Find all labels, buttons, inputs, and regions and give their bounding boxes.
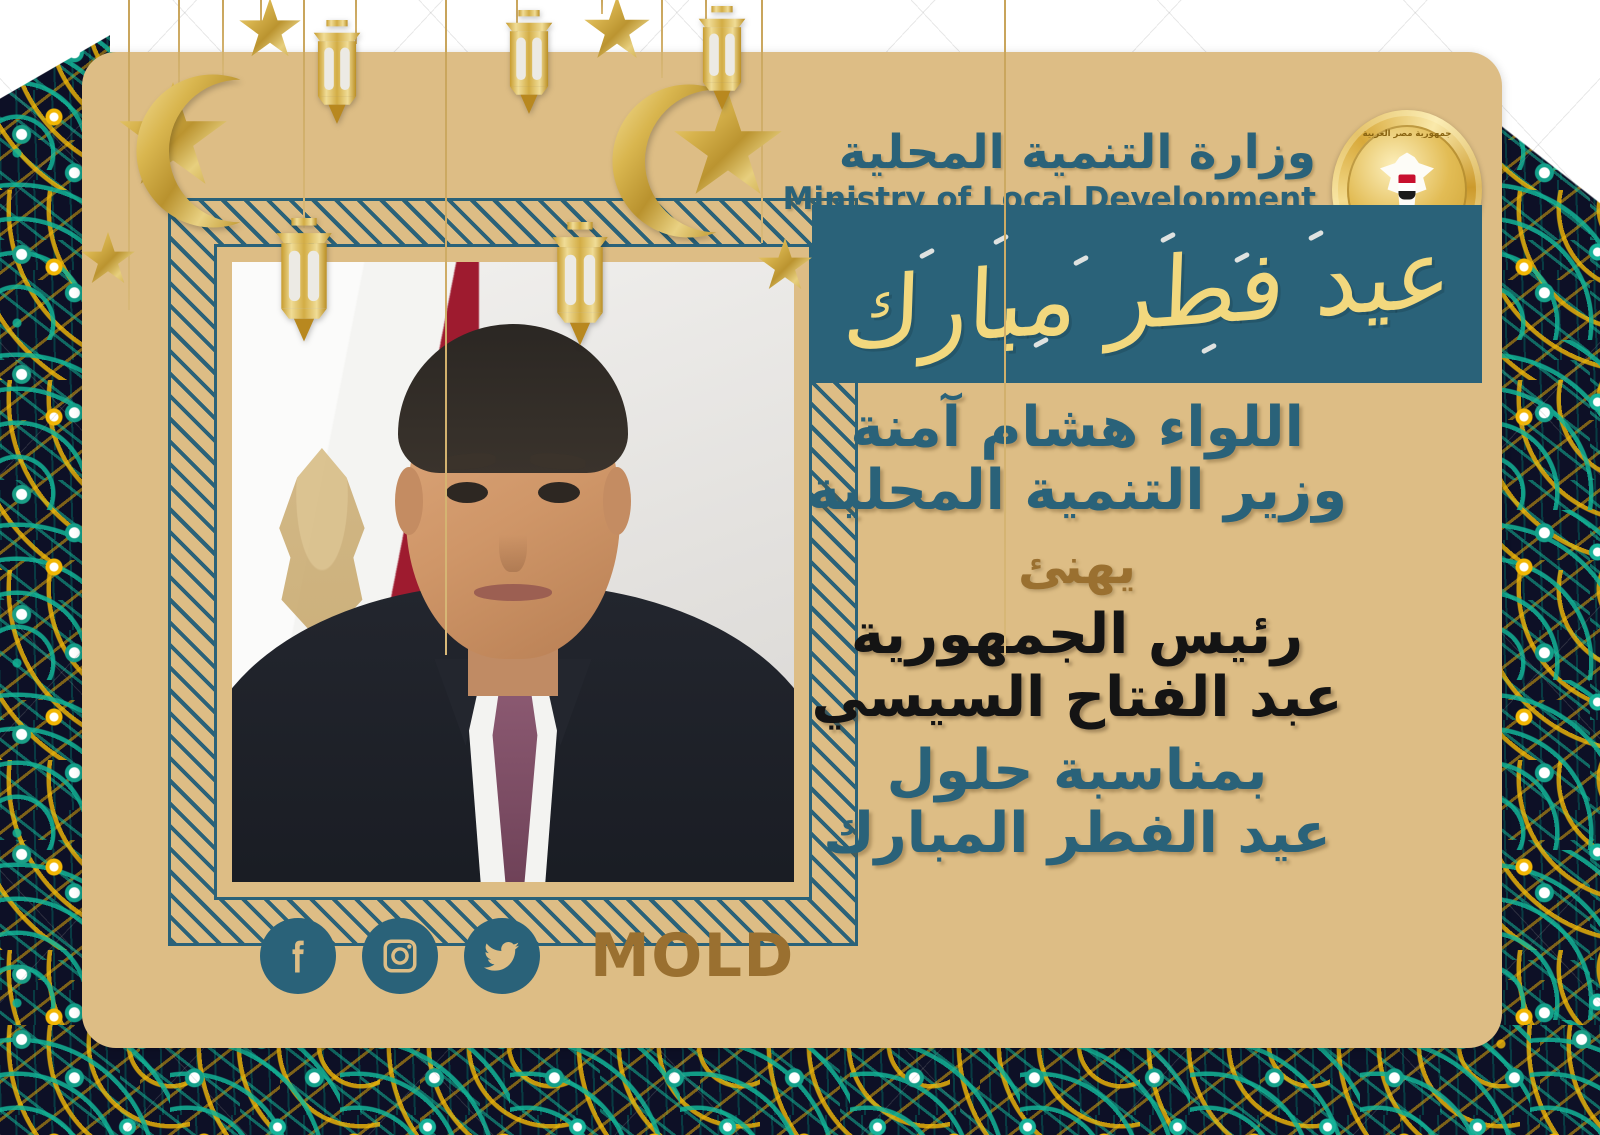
message-line-president-name: عبد الفتاح السيسي <box>762 667 1392 730</box>
poster-card: وزارة التنمية المحلية Ministry of Local … <box>82 52 1502 1048</box>
facebook-icon <box>276 934 320 978</box>
message-line-minister-name: اللواء هشام آمنة <box>762 397 1392 460</box>
seal-text-top: جمهورية مصر العربية <box>1332 129 1482 139</box>
portrait-ear-right <box>603 467 631 535</box>
portrait-frame <box>168 198 858 946</box>
twitter-icon <box>480 934 524 978</box>
ministry-name-arabic: وزارة التنمية المحلية <box>783 128 1316 177</box>
president-portrait-photo <box>232 262 794 882</box>
eid-greeting-card-poster: وزارة التنمية المحلية Ministry of Local … <box>0 0 1600 1135</box>
eid-calligraphy-text: عيد فطر مبارك <box>841 224 1453 363</box>
message-line-congratulates: يهنئ <box>762 538 1392 594</box>
brand-label-mold: MOLD <box>590 921 795 991</box>
portrait-eye-left <box>446 482 488 503</box>
eid-greeting-banner: عيد فطر مبارك <box>812 205 1482 383</box>
instagram-icon <box>378 934 422 978</box>
social-footer: MOLD <box>260 918 795 994</box>
white-top-band <box>110 0 1510 52</box>
portrait-ear-left <box>395 467 423 535</box>
facebook-button[interactable] <box>260 918 336 994</box>
ministry-header: وزارة التنمية المحلية Ministry of Local … <box>783 128 1316 217</box>
message-line-occasion-1: بمناسبة حلول <box>762 740 1392 803</box>
eagle-flag-shield <box>1399 175 1416 200</box>
instagram-button[interactable] <box>362 918 438 994</box>
message-line-president-title: رئيس الجمهورية <box>762 604 1392 667</box>
portrait-nose <box>499 510 527 572</box>
twitter-button[interactable] <box>464 918 540 994</box>
greeting-message-block: اللواء هشام آمنة وزير التنمية المحلية يه… <box>762 397 1392 865</box>
portrait-mouth <box>474 584 553 600</box>
message-line-occasion-2: عيد الفطر المبارك <box>762 803 1392 866</box>
message-line-minister-title: وزير التنمية المحلية <box>762 460 1392 523</box>
